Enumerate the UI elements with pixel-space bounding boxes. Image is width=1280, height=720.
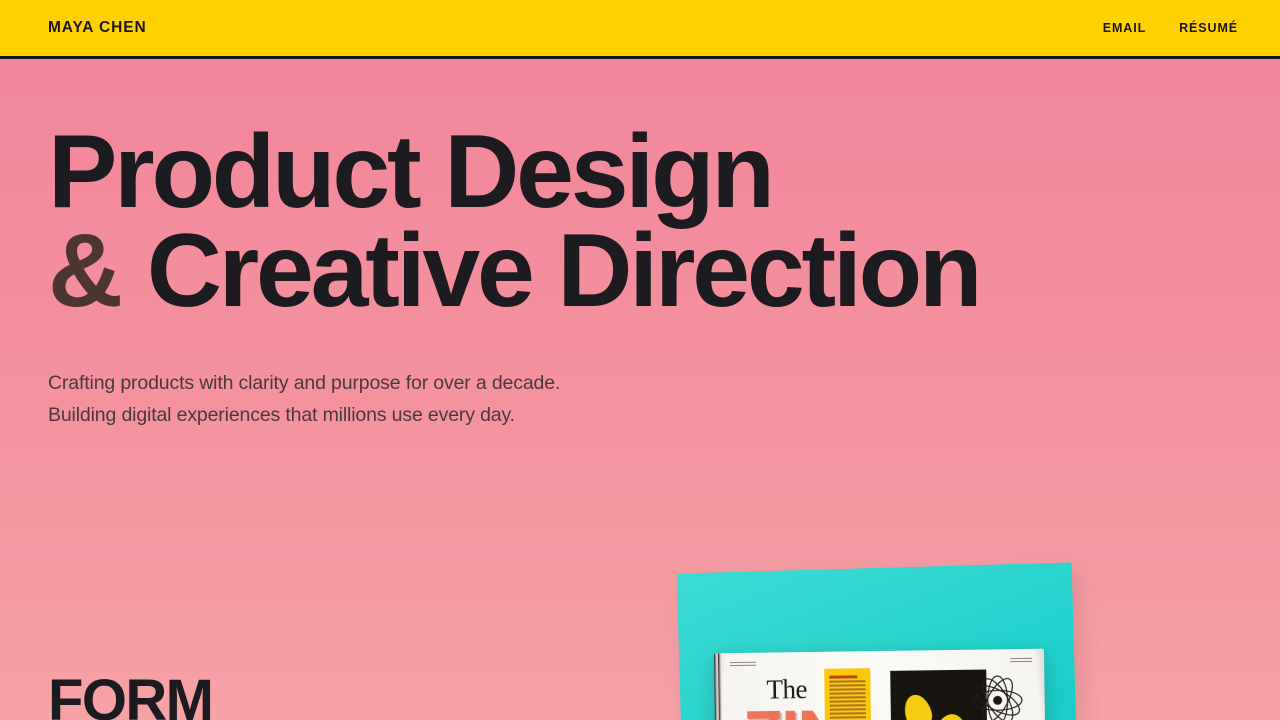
sidebar-text-line xyxy=(829,696,865,698)
page-title: Product Design & Creative Direction xyxy=(48,123,1280,321)
brand-logo[interactable]: MAYA CHEN xyxy=(48,19,147,37)
nav-link-resume[interactable]: RÉSUMÉ xyxy=(1179,21,1238,35)
page-edge-stripes xyxy=(714,653,723,720)
subtitle-line-2: Building digital experiences that millio… xyxy=(48,399,1280,431)
magazine-page-right xyxy=(876,649,1046,720)
page-meta-lines xyxy=(730,662,756,668)
open-magazine-image: The ZIN xyxy=(714,649,1046,720)
headline-line-2: & Creative Direction xyxy=(48,222,1280,321)
hero-subtitle: Crafting products with clarity and purpo… xyxy=(48,367,1280,431)
atom-orbit-icon xyxy=(970,673,1025,720)
sidebar-text-line xyxy=(829,708,865,710)
section-heading-form: FORM xyxy=(48,672,212,720)
pear-shape-icon xyxy=(900,691,935,720)
magazine-page-left: The ZIN xyxy=(714,651,878,720)
sidebar-text-line xyxy=(829,704,865,706)
sidebar-lede-line xyxy=(829,675,858,678)
magazine-yellow-sidebar xyxy=(824,668,872,720)
hero-artwork: The ZIN xyxy=(660,555,1100,720)
subtitle-line-1: Crafting products with clarity and purpo… xyxy=(48,367,1280,399)
primary-nav: EMAIL RÉSUMÉ xyxy=(1103,21,1238,35)
headline-line-1: Product Design xyxy=(48,123,1280,222)
hero-section: Product Design & Creative Direction Craf… xyxy=(0,59,1280,431)
sidebar-text-line xyxy=(829,684,865,686)
sidebar-text-line xyxy=(829,680,865,682)
site-header: MAYA CHEN EMAIL RÉSUMÉ xyxy=(0,0,1280,59)
headline-line-2-text: Creative Direction xyxy=(147,213,980,329)
sidebar-text-line xyxy=(829,692,865,694)
sidebar-text-line xyxy=(829,700,865,702)
page-meta-lines xyxy=(1010,658,1032,664)
nav-link-email[interactable]: EMAIL xyxy=(1103,21,1146,35)
pear-shape-icon xyxy=(929,712,970,720)
sidebar-text-line xyxy=(829,688,865,690)
ampersand-glyph: & xyxy=(48,213,121,329)
sidebar-text-line xyxy=(829,712,865,714)
sidebar-text-line xyxy=(830,716,866,718)
